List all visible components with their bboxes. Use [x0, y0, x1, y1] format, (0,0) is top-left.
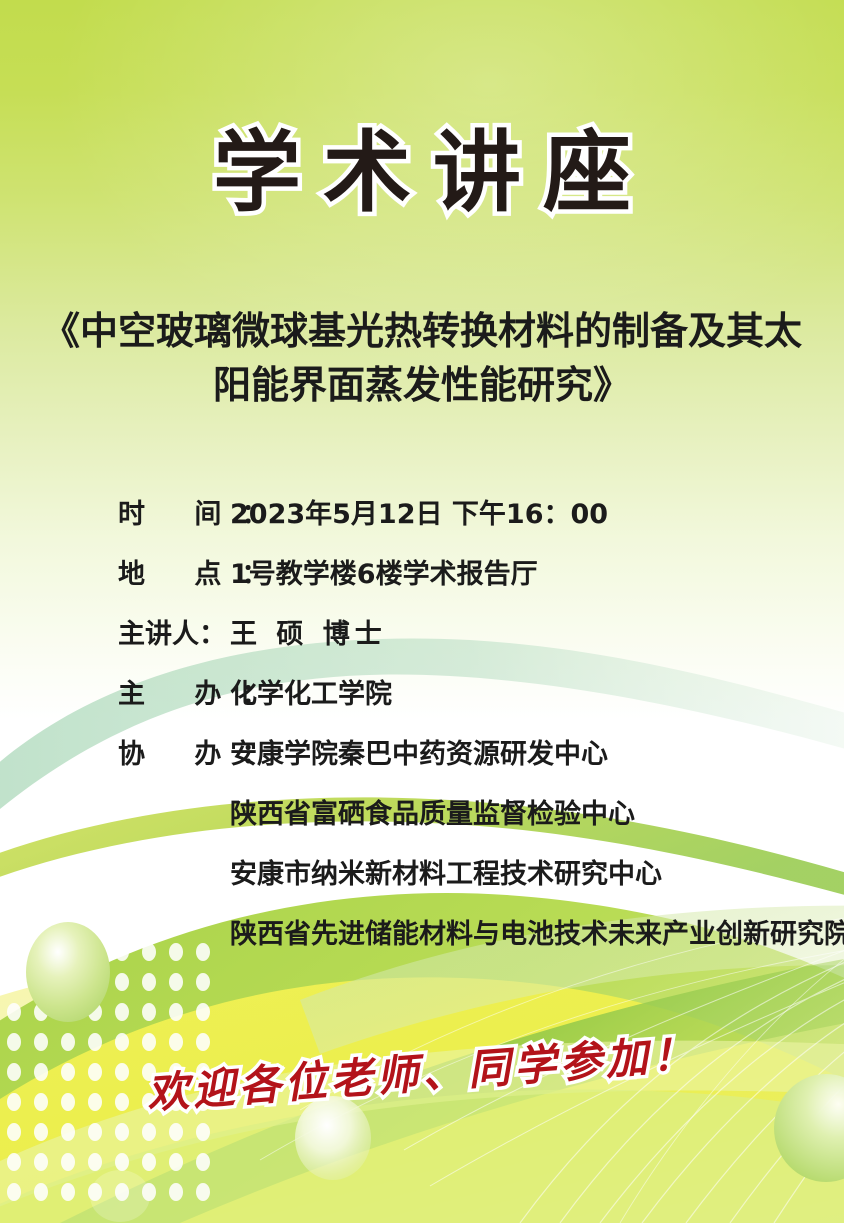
poster-canvas: 学术讲座 《中空玻璃微球基光热转换材料的制备及其太阳能界面蒸发性能研究》 时 间…: [0, 0, 844, 1223]
info-row-speaker: 主讲人： 王 硕 博士: [118, 612, 844, 646]
info-row-time: 时 间： 2023年5月12日 下午16：00: [118, 492, 844, 526]
poster-title: 学术讲座: [191, 125, 653, 220]
info-label-speaker: 主讲人：: [118, 612, 230, 651]
co-organizer-line-4: 陕西省先进储能材料与电池技术未来产业创新研究院: [230, 912, 844, 946]
info-row-co-organizer: 协 办： 安康学院秦巴中药资源研发中心: [118, 732, 844, 766]
co-organizer-line-3: 安康市纳米新材料工程技术研究中心: [230, 852, 844, 886]
info-value-location: 1号教学楼6楼学术报告厅: [230, 552, 538, 591]
info-value-speaker: 王 硕 博士: [230, 612, 387, 651]
info-value-time: 2023年5月12日 下午16：00: [230, 492, 608, 531]
info-label-organizer: 主 办：: [118, 672, 230, 711]
poster-title-container: 学术讲座: [0, 125, 844, 220]
info-value-organizer: 化学化工学院: [230, 672, 392, 711]
info-row-location: 地 点： 1号教学楼6楼学术报告厅: [118, 552, 844, 586]
bubble-left-large: [26, 922, 110, 1022]
co-organizer-line-2: 陕西省富硒食品质量监督检验中心: [230, 792, 844, 826]
poster-subtitle-container: 《中空玻璃微球基光热转换材料的制备及其太阳能界面蒸发性能研究》: [42, 305, 802, 413]
info-value-co-organizer: 安康学院秦巴中药资源研发中心: [230, 732, 608, 771]
bubble-glow-small: [90, 1170, 150, 1222]
info-row-organizer: 主 办： 化学化工学院: [118, 672, 844, 706]
info-label-time: 时 间：: [118, 492, 230, 531]
welcome-container: 欢迎各位老师、同学参加！: [0, 1040, 844, 1101]
poster-subtitle: 《中空玻璃微球基光热转换材料的制备及其太阳能界面蒸发性能研究》: [42, 305, 802, 413]
info-label-co-organizer: 协 办：: [118, 732, 230, 771]
info-label-location: 地 点：: [118, 552, 230, 591]
poster-info-block: 时 间： 2023年5月12日 下午16：00 地 点： 1号教学楼6楼学术报告…: [118, 492, 844, 972]
